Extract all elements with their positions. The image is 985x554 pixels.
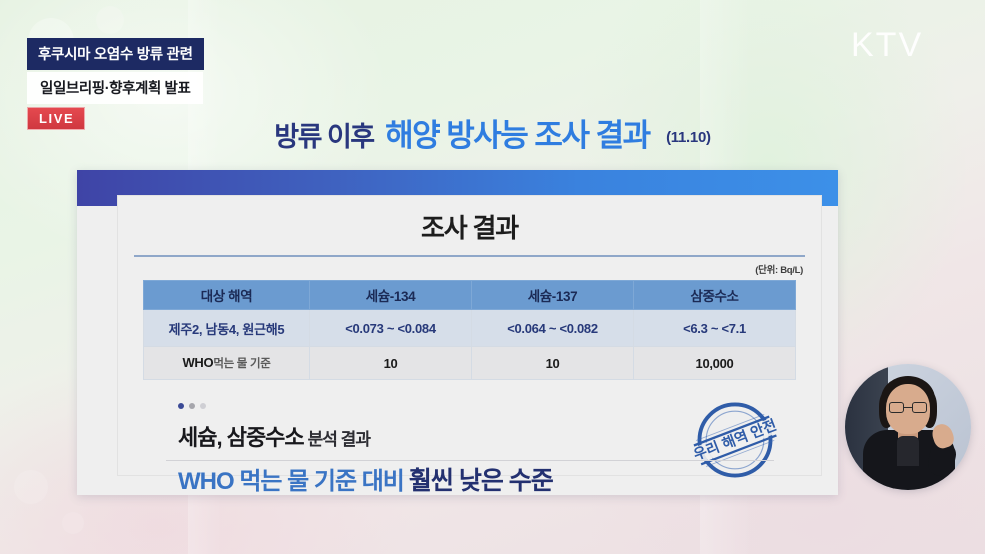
table-row: WHO먹는 물 기준 10 10 10,000 (144, 347, 796, 380)
background-bokeh (14, 470, 48, 504)
column-header-cesium137: 세슘-137 (472, 281, 634, 310)
banner-topic-row: 후쿠시마 오염수 방류 관련 (27, 38, 204, 70)
table-body: 제주2, 남동4, 원근해5 <0.073 ~ <0.084 <0.064 ~ … (144, 310, 796, 380)
summary-line-1: 세슘, 삼중수소분석 결과 (178, 420, 553, 452)
banner-subtitle-row: 일일브리핑·향후계획 발표 (27, 70, 204, 104)
cell-tritium-value: <6.3 ~ <7.1 (634, 310, 796, 347)
headline-main: 해양 방사능 조사 결과 (385, 118, 650, 153)
unit-note: (단위: Bq/L) (118, 257, 821, 280)
cell-region-label: 제주2, 남동4, 원근해5 (144, 310, 310, 347)
summary-line2-navy: 훨씬 낮은 수준 (409, 467, 553, 495)
summary-block: 세슘, 삼중수소분석 결과 WHO 먹는 물 기준 대비훨씬 낮은 수준 (178, 396, 553, 497)
who-label-rest: 먹는 물 기준 (213, 358, 270, 370)
safety-stamp: 우리 해역 안전 (687, 392, 783, 488)
table-header-row: 대상 해역 세슘-134 세슘-137 삼중수소 (144, 281, 796, 310)
interpreter-shirt (897, 436, 919, 466)
cell-cesium134-value: <0.073 ~ <0.084 (310, 310, 472, 347)
panel-footer-divider (166, 460, 774, 461)
table-header: 대상 해역 세슘-134 세슘-137 삼중수소 (144, 281, 796, 310)
headline-date: (11.10) (666, 129, 711, 146)
summary-line-2: WHO 먹는 물 기준 대비훨씬 낮은 수준 (178, 461, 553, 497)
dot-icon (200, 403, 206, 409)
summary-line1-strong: 세슘, 삼중수소 (178, 425, 304, 450)
summary-line1-normal: 분석 결과 (308, 430, 370, 449)
cell-who-cesium137-value: 10 (472, 347, 634, 380)
cell-who-tritium-value: 10,000 (634, 347, 796, 380)
background-bokeh (96, 6, 124, 34)
cell-cesium137-value: <0.064 ~ <0.082 (472, 310, 634, 347)
result-card: 조사 결과 (단위: Bq/L) 대상 해역 세슘-134 세슘-137 삼중수… (77, 170, 838, 495)
cell-who-standard-label: WHO먹는 물 기준 (144, 347, 310, 380)
column-header-tritium: 삼중수소 (634, 281, 796, 310)
survey-results-table: 대상 해역 세슘-134 세슘-137 삼중수소 제주2, 남동4, 원근해5 … (143, 280, 796, 380)
headline-prefix: 방류 이후 (274, 122, 373, 152)
panel-title: 조사 결과 (118, 196, 821, 245)
result-panel: 조사 결과 (단위: Bq/L) 대상 해역 세슘-134 세슘-137 삼중수… (117, 195, 822, 476)
who-label-strong: WHO (182, 355, 213, 370)
summary-line2-blue: WHO 먹는 물 기준 대비 (178, 468, 404, 495)
banner-topic: 후쿠시마 오염수 방류 관련 (27, 38, 204, 70)
safety-stamp-icon: 우리 해역 안전 (687, 392, 783, 488)
cell-who-cesium134-value: 10 (310, 347, 472, 380)
banner-subtitle: 일일브리핑·향후계획 발표 (27, 72, 203, 104)
ktv-channel-logo: KTV (851, 26, 923, 65)
dot-icon (178, 403, 184, 409)
sign-language-interpreter-inset (845, 364, 971, 490)
page-title: 방류 이후 해양 방사능 조사 결과 (11.10) (0, 110, 985, 155)
column-header-region: 대상 해역 (144, 281, 310, 310)
glasses-icon (889, 402, 927, 413)
bullet-dots (178, 396, 553, 414)
background-bokeh (62, 512, 84, 534)
column-header-cesium134: 세슘-134 (310, 281, 472, 310)
table-row: 제주2, 남동4, 원근해5 <0.073 ~ <0.084 <0.064 ~ … (144, 310, 796, 347)
dot-icon (189, 403, 195, 409)
